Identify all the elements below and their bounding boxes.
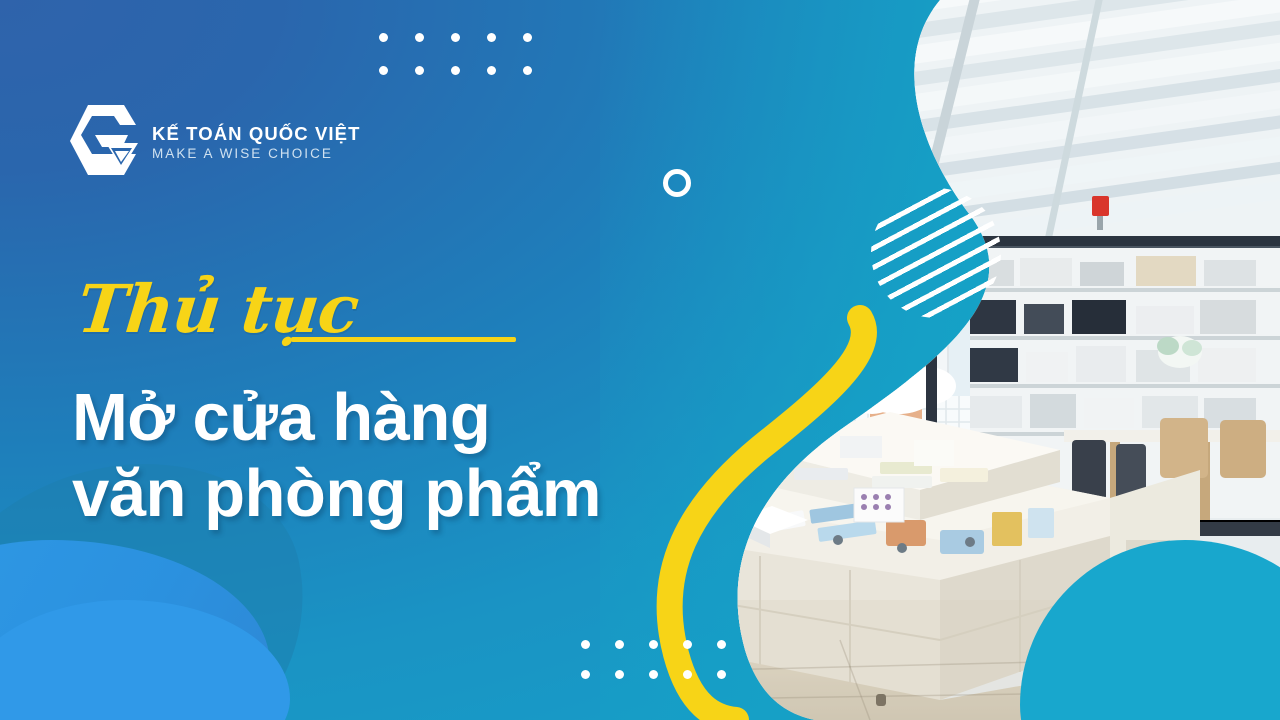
dot — [487, 33, 496, 42]
dot — [487, 66, 496, 75]
dot — [581, 670, 590, 679]
dot — [581, 640, 590, 649]
logo-tagline: MAKE A WISE CHOICE — [152, 145, 361, 163]
dot — [717, 640, 726, 649]
dot — [717, 670, 726, 679]
dot — [451, 66, 460, 75]
dot — [415, 33, 424, 42]
dot — [523, 66, 532, 75]
striped-circle-icon — [871, 188, 1001, 318]
dot — [615, 670, 624, 679]
dot — [683, 640, 692, 649]
dot — [649, 640, 658, 649]
dot — [615, 640, 624, 649]
dot — [451, 33, 460, 42]
dot — [523, 33, 532, 42]
hexagon-q-v-monogram-icon — [66, 103, 140, 179]
hero-kicker: Thủ tục — [75, 276, 362, 342]
hero-headline-line-2: văn phòng phẩm — [72, 456, 601, 532]
hero-headline-line-1: Mở cửa hàng — [72, 380, 490, 455]
logo-text-block: KẾ TOÁN QUỐC VIỆT MAKE A WISE CHOICE — [152, 119, 361, 162]
hero-kicker-rule — [291, 337, 516, 342]
hero-headline: Mở cửa hàng văn phòng phẩm — [72, 380, 601, 533]
dot — [649, 670, 658, 679]
marketing-banner: KẾ TOÁN QUỐC VIỆT MAKE A WISE CHOICE Thủ… — [0, 0, 1280, 720]
logo-company-name: KẾ TOÁN QUỐC VIỆT — [152, 123, 361, 144]
dot-grid-top — [379, 33, 559, 99]
dot-grid-bottom — [581, 640, 751, 700]
ring-outline-icon — [663, 169, 691, 197]
brand-logo[interactable]: KẾ TOÁN QUỐC VIỆT MAKE A WISE CHOICE — [66, 103, 361, 179]
dot — [683, 670, 692, 679]
dot — [415, 66, 424, 75]
dot — [379, 33, 388, 42]
dot — [379, 66, 388, 75]
